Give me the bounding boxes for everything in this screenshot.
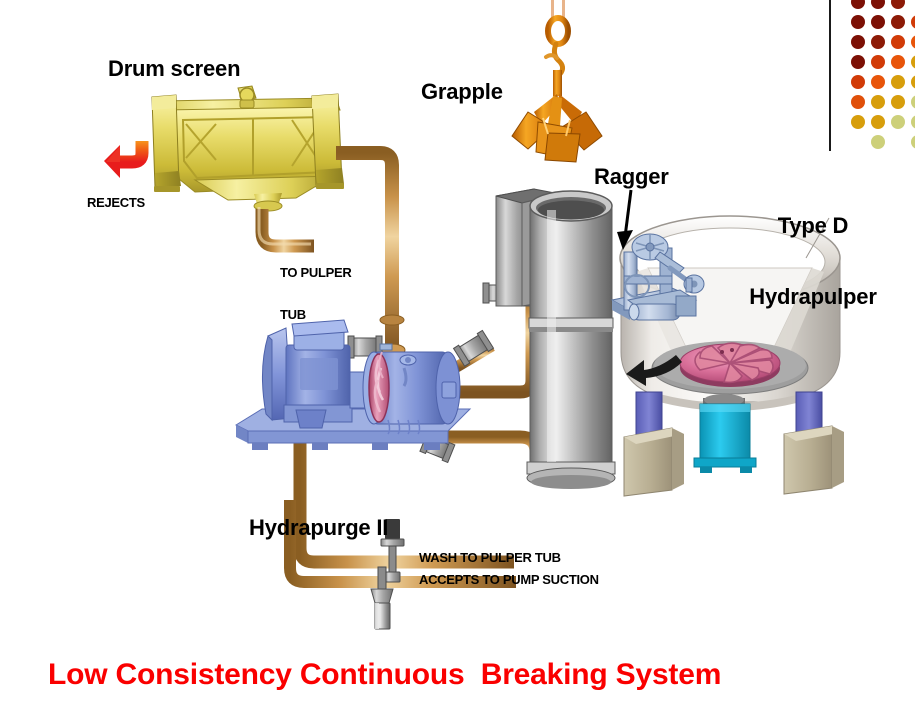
type-d-hydrapulper-label-line2: Hydrapulper: [738, 285, 888, 309]
rejects-arrow: [104, 141, 142, 178]
accepts-to-pump-suction-label: ACCEPTS TO PUMP SUCTION: [419, 573, 599, 587]
diagram-canvas: Drum screen Grapple Ragger Type D Hydrap…: [0, 0, 915, 701]
ragger-label: Ragger: [594, 165, 669, 189]
wash-to-pulper-tub-label: WASH TO PULPER TUB: [419, 551, 561, 565]
to-pulper-tub-label-line2: TUB: [280, 308, 351, 322]
type-d-hydrapulper-label-line1: Type D: [738, 214, 888, 238]
standpipe-tank: [496, 189, 615, 489]
type-d-hydrapulper-label: Type D Hydrapulper: [738, 166, 888, 356]
rejects-label: REJECTS: [87, 196, 145, 210]
drum-screen-assembly: [152, 86, 344, 211]
to-pulper-tub-label-line1: TO PULPER: [280, 266, 351, 280]
grapple-label: Grapple: [421, 80, 503, 104]
hydrapurge-label: Hydrapurge II: [249, 516, 388, 540]
vertical-rule: [829, 0, 831, 151]
grapple-assembly: [512, 0, 602, 162]
diagram-title: Low Consistency Continuous Breaking Syst…: [48, 658, 721, 692]
to-pulper-tub-label: TO PULPER TUB: [280, 238, 351, 350]
drum-screen-label: Drum screen: [108, 57, 240, 81]
